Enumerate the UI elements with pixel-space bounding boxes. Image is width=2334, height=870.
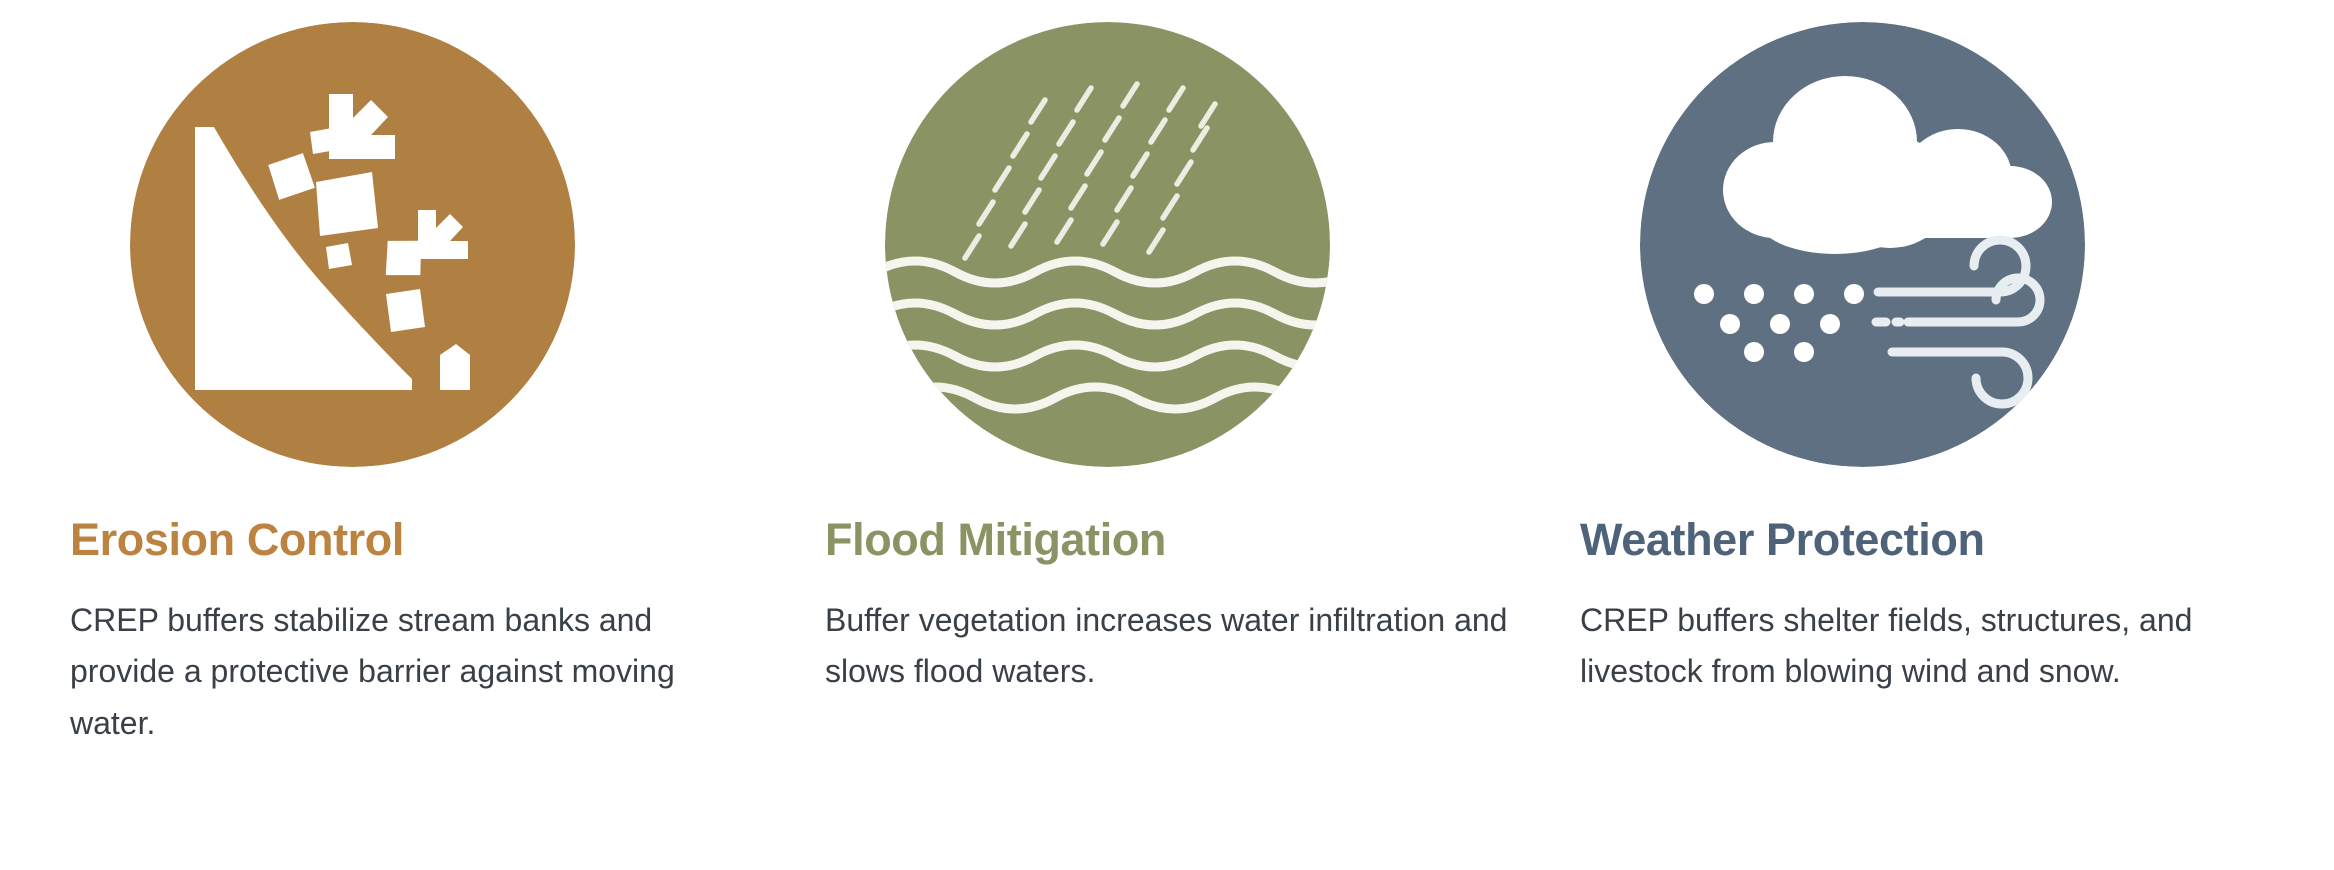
- erosion-landslide-icon: [130, 22, 575, 467]
- feature-body-flood-mitigation: Buffer vegetation increases water infilt…: [825, 595, 1525, 699]
- icon-wrap-erosion-control: [130, 22, 575, 467]
- feature-heading-weather-protection: Weather Protection: [1580, 515, 2293, 565]
- feature-heading-flood-mitigation: Flood Mitigation: [825, 515, 1538, 565]
- feature-body-weather-protection: CREP buffers shelter fields, structures,…: [1580, 595, 2280, 699]
- feature-card-weather-protection: Weather Protection CREP buffers shelter …: [1578, 0, 2333, 750]
- features-grid: Erosion Control CREP buffers stabilize s…: [0, 0, 2334, 750]
- feature-card-erosion-control: Erosion Control CREP buffers stabilize s…: [68, 0, 823, 750]
- feature-body-erosion-control: CREP buffers stabilize stream banks and …: [70, 595, 742, 750]
- feature-heading-erosion-control: Erosion Control: [70, 515, 783, 565]
- icon-wrap-flood-mitigation: [885, 22, 1330, 467]
- feature-card-flood-mitigation: Flood Mitigation Buffer vegetation incre…: [823, 0, 1578, 750]
- weather-snow-wind-cloud-icon: [1640, 22, 2085, 467]
- flood-rain-waves-icon: [885, 22, 1330, 467]
- icon-wrap-weather-protection: [1640, 22, 2085, 467]
